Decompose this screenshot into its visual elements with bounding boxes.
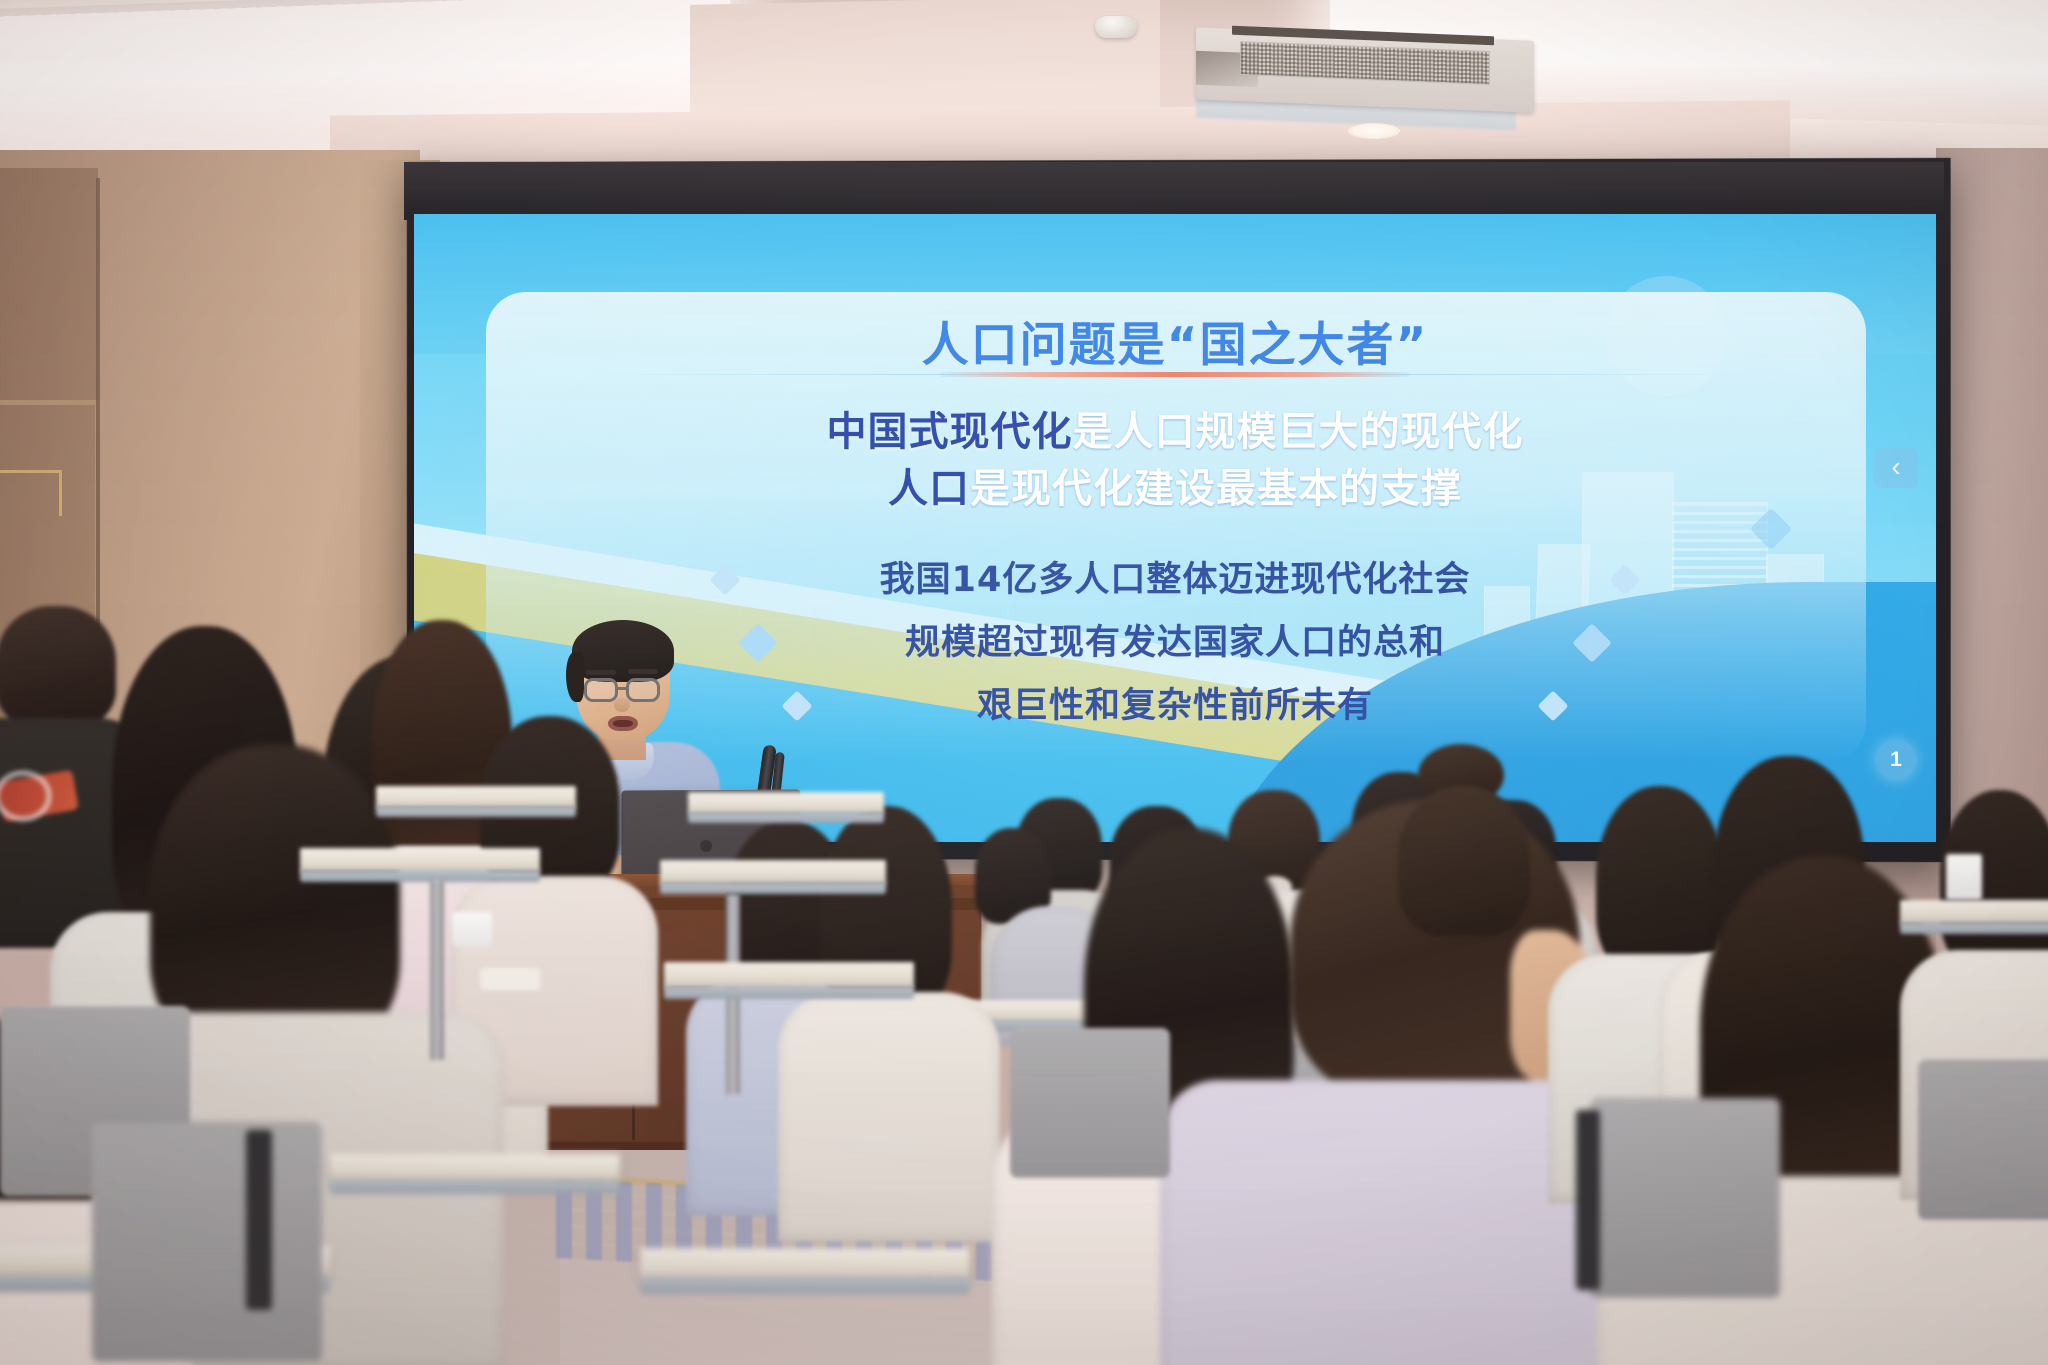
classroom-desk — [640, 1248, 970, 1280]
headline-rest-2: 是现代化建设最基本的支撑 — [970, 466, 1462, 512]
glasses-bridge — [617, 687, 628, 690]
screen-top-border — [404, 162, 1944, 220]
classroom-desk — [300, 848, 540, 872]
desk-edge — [1900, 922, 2048, 934]
classroom-desk — [660, 860, 886, 884]
mesh-office-chair — [1590, 1098, 1780, 1298]
bullet-text: 我国14亿多人口整体迈进现代化社会 — [880, 560, 1471, 600]
desk-edge — [330, 1180, 620, 1194]
desk-edge — [640, 1278, 970, 1294]
left-wall-gold-trim — [0, 470, 62, 516]
slide-headline: 中国式现代化是人口规模巨大的现代化 人口是现代化建设最基本的支撑 — [414, 404, 1936, 518]
classroom-desk — [664, 962, 914, 988]
presenter-eyebrow — [628, 669, 658, 674]
desk-edge — [688, 812, 884, 823]
glasses-icon — [584, 678, 618, 702]
paper-cup — [452, 912, 492, 946]
bullet-text: 规模超过现有发达国家人口的总和 — [905, 623, 1445, 663]
classroom-desk — [688, 792, 884, 814]
mesh-office-chair — [92, 1122, 322, 1362]
laptop-logo — [700, 840, 712, 852]
smoke-detector-icon — [1095, 16, 1137, 38]
mesh-office-chair — [1010, 1028, 1170, 1178]
diamond-bullet-icon — [1609, 564, 1640, 595]
presenter-eyebrow — [586, 670, 616, 675]
diamond-bullet-icon — [709, 564, 740, 595]
desk-edge — [300, 870, 540, 882]
diamond-bullet-icon — [781, 690, 812, 721]
diamond-bullet-icon — [738, 623, 778, 663]
lecture-hall-photo: 人口问题是“国之大者” 中国式现代化是人口规模巨大的现代化 人口是现代化建设最基… — [0, 0, 2048, 1365]
desk-edge — [664, 986, 914, 999]
bullet-item: 我国14亿多人口整体迈进现代化社会 — [414, 549, 1936, 612]
slide-title: 人口问题是“国之大者” — [414, 306, 1936, 375]
paper-cup — [1946, 854, 1982, 900]
classroom-desk — [330, 1154, 620, 1182]
presenter-nose — [614, 698, 630, 712]
diamond-bullet-icon — [1537, 690, 1568, 721]
bullet-text: 艰巨性和复杂性前所未有 — [977, 686, 1373, 726]
napkin — [480, 968, 540, 990]
classroom-desk — [1900, 900, 2048, 924]
ceiling — [0, 0, 2048, 175]
desk-edge — [660, 882, 886, 894]
chevron-left-icon[interactable]: ‹ — [1874, 448, 1918, 488]
mesh-office-chair — [1918, 1060, 2048, 1220]
headline-accent-2: 人口 — [888, 466, 970, 512]
glasses-icon — [626, 678, 660, 702]
diamond-bullet-icon — [1572, 623, 1612, 663]
slide-page-badge: 1 — [1876, 740, 1916, 780]
presenter-hair-side — [566, 652, 584, 702]
headline-accent-1: 中国式现代化 — [827, 409, 1073, 455]
slide-title-underline — [940, 372, 1410, 377]
recessed-downlight — [1348, 123, 1400, 139]
ceiling-panel — [690, 0, 1160, 123]
presenter-mouth-inner — [613, 720, 633, 727]
headline-rest-1: 是人口规模巨大的现代化 — [1073, 409, 1524, 455]
desk-leg — [430, 880, 444, 1060]
chair-arm — [246, 1130, 272, 1310]
desk-edge — [376, 806, 576, 817]
chair-arm — [1576, 1110, 1600, 1290]
classroom-desk — [376, 786, 576, 808]
